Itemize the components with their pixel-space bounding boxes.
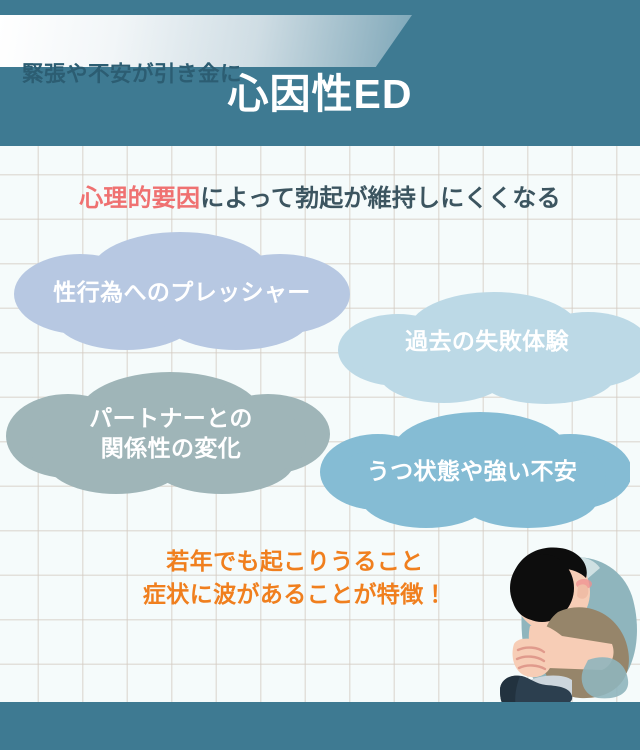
cloud-item-partner-relationship: パートナーとの 関係性の変化: [2, 368, 332, 496]
lead-sentence: 心理的要因によって勃起が維持しにくくなる: [0, 178, 640, 213]
cloud-shape: [6, 372, 330, 494]
header-banner: 緊張や不安が引き金に 心因性ED: [0, 0, 640, 146]
lead-highlight: 心理的要因: [79, 185, 200, 212]
cloud-shape: [338, 292, 640, 404]
cloud-item-past-failure: 過去の失敗体験: [334, 288, 640, 406]
bottom-note: 若年でも起こりうること 症状に波があることが特徴！: [110, 545, 480, 610]
infographic-canvas: 緊張や不安が引き金に 心因性ED 心理的要因によって勃起が維持しにくくなる 性行…: [0, 0, 640, 750]
cloud-item-depression-anxiety: うつ状態や強い不安: [318, 408, 630, 530]
sitting-person-illustration: [466, 540, 640, 712]
lead-rest: によって勃起が維持しにくくなる: [200, 185, 561, 212]
footer-bar: [0, 702, 640, 750]
cloud-shape: [320, 412, 630, 528]
page-title: 心因性ED: [0, 74, 640, 115]
cloud-shape: [14, 232, 350, 350]
cloud-item-pressure: 性行為へのプレッシャー: [8, 228, 356, 352]
